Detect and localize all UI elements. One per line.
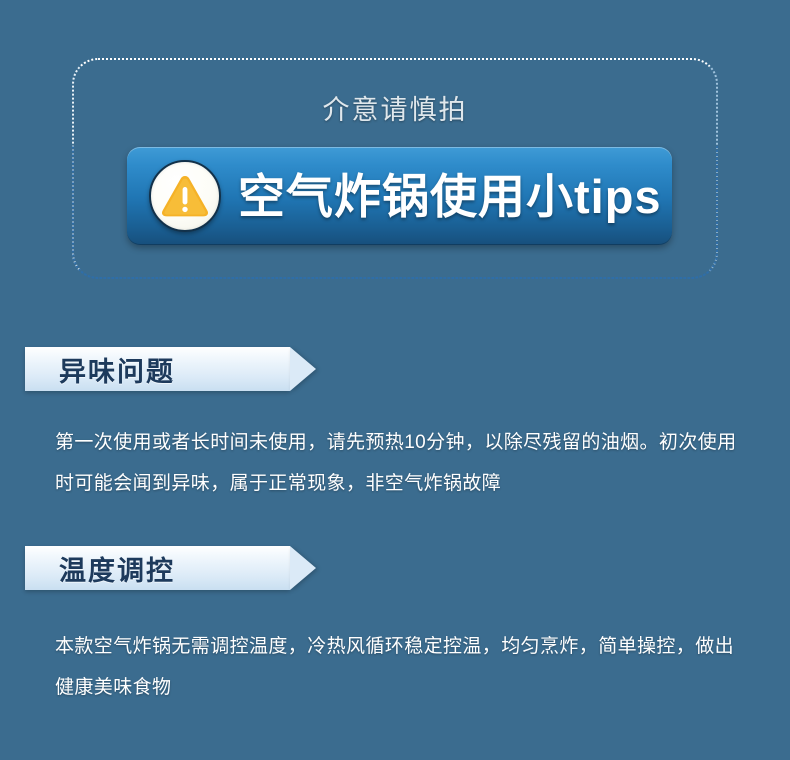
hero-title-banner: 空气炸锅使用小tips <box>127 147 672 245</box>
section-body-odor: 第一次使用或者长时间未使用，请先预热10分钟，以除尽残留的油烟。初次使用时可能会… <box>55 422 745 504</box>
section-banner-odor: 异味问题 <box>25 347 290 391</box>
section-temperature: 温度调控 本款空气炸锅无需调控温度，冷热风循环稳定控温，均匀烹炸，简单操控，做出… <box>0 546 790 708</box>
section-banner-label: 异味问题 <box>59 350 175 389</box>
section-odor: 异味问题 第一次使用或者长时间未使用，请先预热10分钟，以除尽残留的油烟。初次使… <box>0 347 790 504</box>
section-banner-temperature: 温度调控 <box>25 546 290 590</box>
section-banner-label: 温度调控 <box>59 549 175 588</box>
page-title: 空气炸锅使用小tips <box>238 173 662 220</box>
hero-subtitle: 介意请慎拍 <box>72 88 718 127</box>
warning-triangle-icon <box>149 160 221 232</box>
section-body-temperature: 本款空气炸锅无需调控温度，冷热风循环稳定控温，均匀烹炸，简单操控，做出健康美味食… <box>55 626 745 708</box>
